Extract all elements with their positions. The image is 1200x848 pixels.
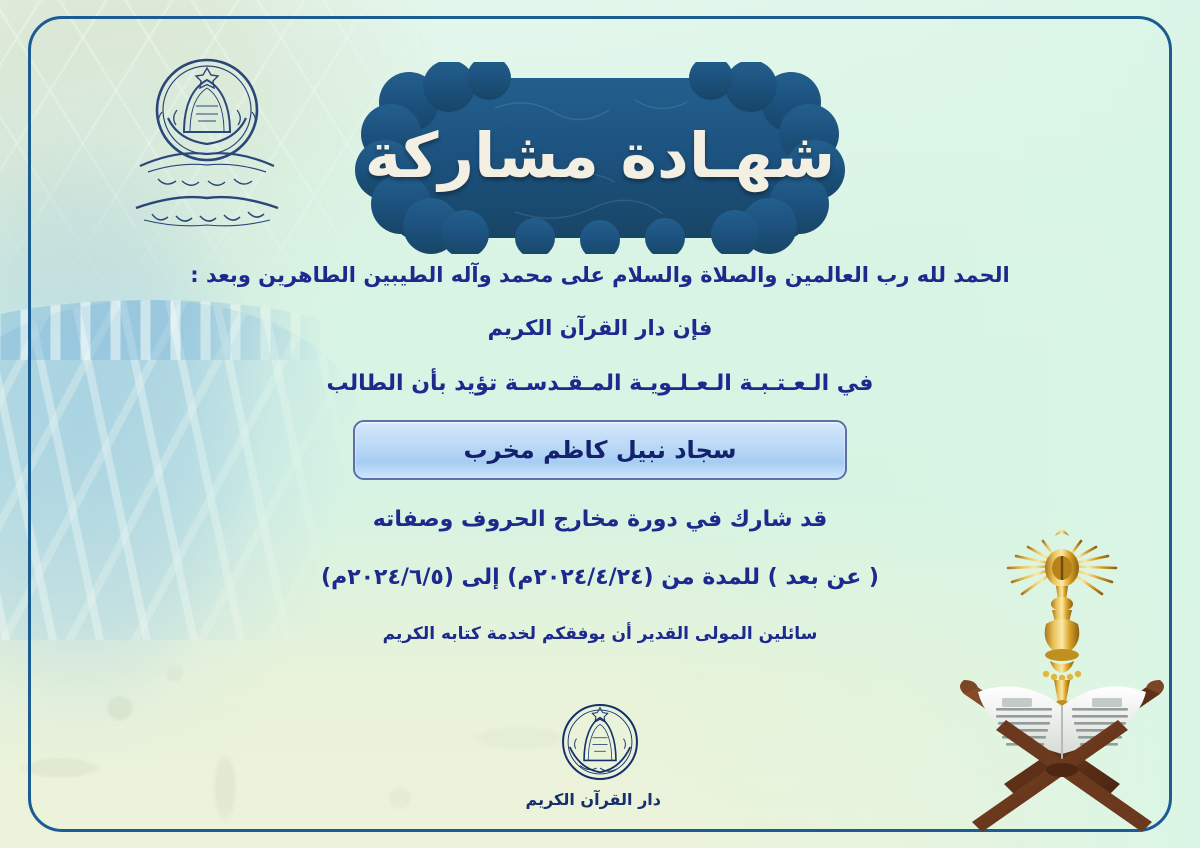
body-line-institution: فإن دار القرآن الكريم <box>0 315 1200 342</box>
body-line-praise: الحمد لله رب العالمين والصلاة والسلام عل… <box>0 262 1200 289</box>
recipient-name: سجاد نبيل كاظم مخرب <box>464 436 737 464</box>
certificate-page: شهـادة مشاركة الحمد لله رب العالمين والص… <box>0 0 1200 848</box>
certificate-title: شهـادة مشاركة <box>305 62 895 254</box>
quran-stand-illustration <box>942 522 1182 832</box>
body-line-shrine: في الـعـتـبـة الـعـلـويـة المـقـدسـة تؤي… <box>0 370 1200 398</box>
recipient-name-box: سجاد نبيل كاظم مخرب <box>353 420 847 480</box>
title-banner: شهـادة مشاركة <box>305 62 895 254</box>
footer-organization-name: دار القرآن الكريم <box>539 790 661 809</box>
dar-al-quran-emblem-icon <box>122 48 292 233</box>
footer-emblem-block: دار القرآن الكريم <box>539 700 661 809</box>
dar-al-quran-emblem-icon <box>558 700 642 784</box>
